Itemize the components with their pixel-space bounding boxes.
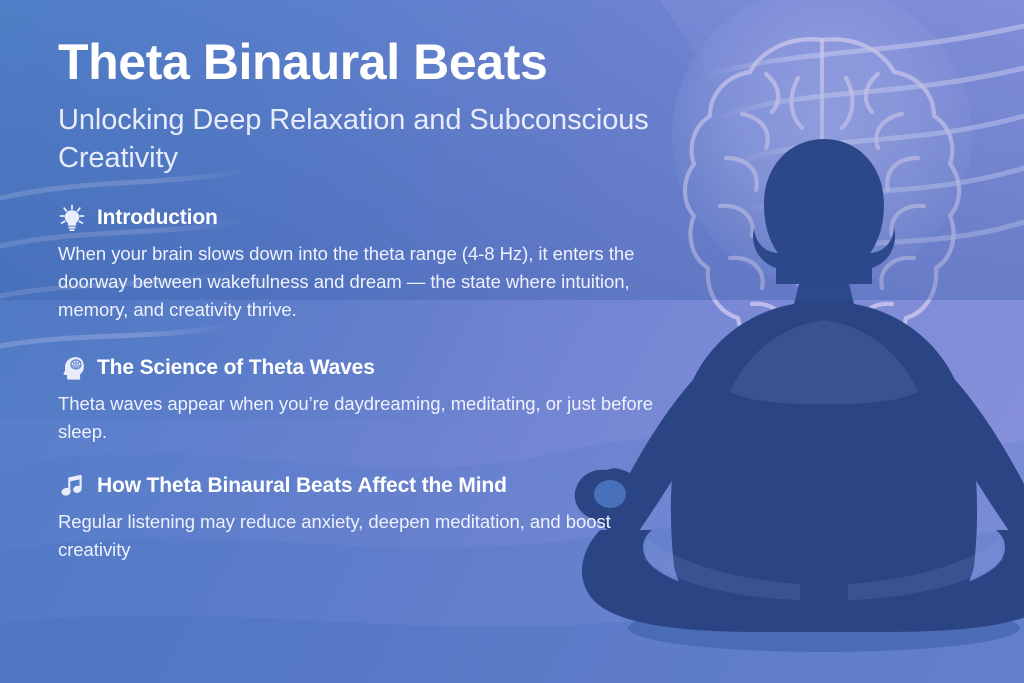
section-effects-header: How Theta Binaural Beats Affect the Mind bbox=[58, 472, 678, 500]
section-science-title: The Science of Theta Waves bbox=[97, 356, 375, 380]
music-note-icon bbox=[58, 472, 86, 500]
page-title: Theta Binaural Beats bbox=[58, 36, 678, 89]
section-introduction-header: Introduction bbox=[58, 204, 678, 232]
section-science: The Science of Theta Waves Theta waves a… bbox=[58, 354, 678, 446]
lightbulb-icon bbox=[58, 204, 86, 232]
content-column: Theta Binaural Beats Unlocking Deep Rela… bbox=[58, 36, 678, 564]
section-science-header: The Science of Theta Waves bbox=[58, 354, 678, 382]
section-effects: How Theta Binaural Beats Affect the Mind… bbox=[58, 472, 678, 564]
section-introduction-title: Introduction bbox=[97, 206, 218, 230]
section-science-body: Theta waves appear when you’re daydreami… bbox=[58, 390, 668, 446]
section-effects-body: Regular listening may reduce anxiety, de… bbox=[58, 508, 668, 564]
section-effects-title: How Theta Binaural Beats Affect the Mind bbox=[97, 474, 507, 498]
page-subtitle: Unlocking Deep Relaxation and Subconscio… bbox=[58, 101, 678, 178]
section-introduction: Introduction When your brain slows down … bbox=[58, 204, 678, 324]
infographic-canvas: Theta Binaural Beats Unlocking Deep Rela… bbox=[0, 0, 1024, 683]
head-brain-icon bbox=[58, 354, 86, 382]
section-introduction-body: When your brain slows down into the thet… bbox=[58, 240, 668, 324]
